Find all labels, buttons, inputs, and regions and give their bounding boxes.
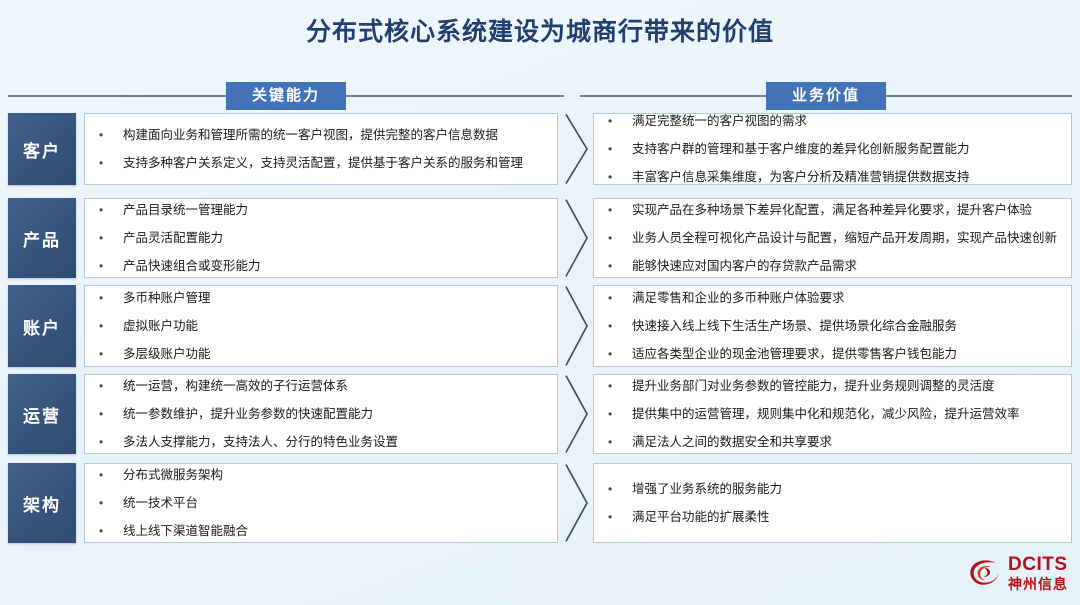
logo-wordmark: DCITS 神州信息 [1008, 555, 1068, 591]
chevron-right-icon [562, 113, 590, 185]
value-bullet-text: 实现产品在多种场景下差异化配置，满足各种差异化要求，提升客户体验 [632, 202, 1063, 219]
bullet-dot-icon: • [608, 509, 632, 526]
bullet-dot-icon: • [99, 467, 123, 484]
value-bullet-text: 丰富客户信息采集维度，为客户分析及精准营销提供数据支持 [632, 169, 1063, 186]
capability-bullet: •支持多种客户关系定义，支持灵活配置，提供基于客户关系的服务和管理 [99, 149, 549, 177]
bullet-dot-icon: • [608, 378, 632, 395]
bullet-dot-icon: • [608, 406, 632, 423]
value-bullet-text: 增强了业务系统的服务能力 [632, 481, 1063, 498]
value-bullet-text: 满足法人之间的数据安全和共享要求 [632, 434, 1063, 451]
bullet-dot-icon: • [608, 346, 632, 363]
category-label-4[interactable]: 架构 [8, 463, 76, 543]
matrix-row: 客户•构建面向业务和管理所需的统一客户视图，提供完整的客户信息数据•支持多种客户… [0, 113, 1080, 185]
capability-bullet-text: 统一技术平台 [123, 495, 549, 512]
capability-bullet-text: 虚拟账户功能 [123, 318, 549, 335]
value-bullet: •能够快速应对国内客户的存贷款产品需求 [608, 252, 1063, 280]
bullet-dot-icon: • [99, 495, 123, 512]
company-logo: DCITS 神州信息 [968, 555, 1068, 591]
values-box-2: •满足零售和企业的多币种账户体验要求•快速接入线上线下生活生产场景、提供场景化综… [593, 285, 1072, 367]
value-bullet: •满足零售和企业的多币种账户体验要求 [608, 284, 1063, 312]
value-bullet-text: 适应各类型企业的现金池管理要求，提供零售客户钱包能力 [632, 346, 1063, 363]
bullet-dot-icon: • [99, 127, 123, 144]
value-bullet: •满足法人之间的数据安全和共享要求 [608, 428, 1063, 456]
capability-bullet: •统一技术平台 [99, 489, 549, 517]
bullet-dot-icon: • [99, 230, 123, 247]
column-header-values: 业务价值 [580, 82, 1072, 110]
capability-bullet-text: 分布式微服务架构 [123, 467, 549, 484]
values-box-0: •满足完整统一的客户视图的需求•支持客户群的管理和基于客户维度的差异化创新服务配… [593, 113, 1072, 185]
values-box-4: •增强了业务系统的服务能力•满足平台功能的扩展柔性 [593, 463, 1072, 543]
bullet-dot-icon: • [608, 169, 632, 186]
capability-bullet: •统一参数维护，提升业务参数的快速配置能力 [99, 400, 549, 428]
value-bullet-text: 支持客户群的管理和基于客户维度的差异化创新服务配置能力 [632, 141, 1063, 158]
category-label-0[interactable]: 客户 [8, 113, 76, 185]
bullet-dot-icon: • [99, 202, 123, 219]
page-title: 分布式核心系统建设为城商行带来的价值 [0, 12, 1080, 48]
capability-bullet-text: 多层级账户功能 [123, 346, 549, 363]
bullet-dot-icon: • [608, 113, 632, 130]
header-rule-right-end [886, 95, 1072, 97]
capability-bullet: •统一运营，构建统一高效的子行运营体系 [99, 372, 549, 400]
capability-bullet: •分布式微服务架构 [99, 461, 549, 489]
value-bullet: •业务人员全程可视化产品设计与配置，缩短产品开发周期，实现产品快速创新 [608, 224, 1063, 252]
capability-bullet: •产品快速组合或变形能力 [99, 252, 549, 280]
value-bullet-text: 业务人员全程可视化产品设计与配置，缩短产品开发周期，实现产品快速创新 [632, 230, 1063, 247]
header-rule-left-end [346, 95, 564, 97]
capability-bullet-text: 多币种账户管理 [123, 290, 549, 307]
bullet-dot-icon: • [608, 258, 632, 275]
capability-bullet: •多币种账户管理 [99, 284, 549, 312]
header-rule-left-start [8, 95, 226, 97]
capabilities-box-0: •构建面向业务和管理所需的统一客户视图，提供完整的客户信息数据•支持多种客户关系… [84, 113, 558, 185]
value-bullet-text: 满足完整统一的客户视图的需求 [632, 113, 1063, 130]
capability-bullet: •多层级账户功能 [99, 340, 549, 368]
value-bullet-text: 能够快速应对国内客户的存贷款产品需求 [632, 258, 1063, 275]
bullet-dot-icon: • [99, 318, 123, 335]
header-chip-capabilities: 关键能力 [226, 82, 346, 110]
bullet-dot-icon: • [99, 346, 123, 363]
column-header-capabilities: 关键能力 [8, 82, 564, 110]
matrix-row: 账户•多币种账户管理•虚拟账户功能•多层级账户功能•满足零售和企业的多币种账户体… [0, 285, 1080, 367]
bullet-dot-icon: • [608, 481, 632, 498]
bullet-dot-icon: • [99, 406, 123, 423]
category-label-1[interactable]: 产品 [8, 198, 76, 278]
capabilities-box-4: •分布式微服务架构•统一技术平台•线上线下渠道智能融合 [84, 463, 558, 543]
value-bullet: •提升业务部门对业务参数的管控能力，提升业务规则调整的灵活度 [608, 372, 1063, 400]
bullet-dot-icon: • [99, 155, 123, 172]
value-bullet: •支持客户群的管理和基于客户维度的差异化创新服务配置能力 [608, 135, 1063, 163]
header-rule-right-start [580, 95, 766, 97]
value-bullet: •增强了业务系统的服务能力 [608, 475, 1063, 503]
value-bullet: •丰富客户信息采集维度，为客户分析及精准营销提供数据支持 [608, 163, 1063, 191]
bullet-dot-icon: • [99, 434, 123, 451]
capabilities-box-3: •统一运营，构建统一高效的子行运营体系•统一参数维护，提升业务参数的快速配置能力… [84, 374, 558, 454]
dcits-swoosh-icon [968, 557, 1002, 589]
value-bullet-text: 满足平台功能的扩展柔性 [632, 509, 1063, 526]
value-bullet: •实现产品在多种场景下差异化配置，满足各种差异化要求，提升客户体验 [608, 196, 1063, 224]
chevron-right-icon [562, 285, 590, 367]
capability-bullet-text: 支持多种客户关系定义，支持灵活配置，提供基于客户关系的服务和管理 [123, 155, 549, 172]
value-bullet: •快速接入线上线下生活生产场景、提供场景化综合金融服务 [608, 312, 1063, 340]
capability-bullet-text: 产品快速组合或变形能力 [123, 258, 549, 275]
chevron-right-icon [562, 463, 590, 543]
value-bullet-text: 满足零售和企业的多币种账户体验要求 [632, 290, 1063, 307]
capability-bullet-text: 统一参数维护，提升业务参数的快速配置能力 [123, 406, 549, 423]
capability-bullet-text: 多法人支撑能力，支持法人、分行的特色业务设置 [123, 434, 549, 451]
value-bullet: •满足完整统一的客户视图的需求 [608, 107, 1063, 135]
bullet-dot-icon: • [608, 290, 632, 307]
capability-bullet: •多法人支撑能力，支持法人、分行的特色业务设置 [99, 428, 549, 456]
capabilities-box-2: •多币种账户管理•虚拟账户功能•多层级账户功能 [84, 285, 558, 367]
header-chip-values: 业务价值 [766, 82, 886, 110]
bullet-dot-icon: • [608, 230, 632, 247]
capability-bullet-text: 线上线下渠道智能融合 [123, 523, 549, 540]
capability-bullet: •线上线下渠道智能融合 [99, 517, 549, 545]
bullet-dot-icon: • [608, 434, 632, 451]
bullet-dot-icon: • [99, 378, 123, 395]
bullet-dot-icon: • [608, 141, 632, 158]
capability-bullet-text: 统一运营，构建统一高效的子行运营体系 [123, 378, 549, 395]
logo-text-en: DCITS [1008, 555, 1068, 574]
bullet-dot-icon: • [99, 258, 123, 275]
value-bullet: •满足平台功能的扩展柔性 [608, 503, 1063, 531]
values-box-3: •提升业务部门对业务参数的管控能力，提升业务规则调整的灵活度•提供集中的运营管理… [593, 374, 1072, 454]
chevron-right-icon [562, 198, 590, 278]
chevron-right-icon [562, 374, 590, 454]
capabilities-box-1: •产品目录统一管理能力•产品灵活配置能力•产品快速组合或变形能力 [84, 198, 558, 278]
bullet-dot-icon: • [99, 290, 123, 307]
value-bullet: •适应各类型企业的现金池管理要求，提供零售客户钱包能力 [608, 340, 1063, 368]
capability-bullet: •产品目录统一管理能力 [99, 196, 549, 224]
value-bullet-text: 提供集中的运营管理，规则集中化和规范化，减少风险，提升运营效率 [632, 406, 1063, 423]
bullet-dot-icon: • [99, 523, 123, 540]
value-bullet-text: 快速接入线上线下生活生产场景、提供场景化综合金融服务 [632, 318, 1063, 335]
category-label-3[interactable]: 运营 [8, 374, 76, 454]
bullet-dot-icon: • [608, 318, 632, 335]
capability-bullet: •虚拟账户功能 [99, 312, 549, 340]
capability-bullet: •构建面向业务和管理所需的统一客户视图，提供完整的客户信息数据 [99, 121, 549, 149]
capability-bullet-text: 构建面向业务和管理所需的统一客户视图，提供完整的客户信息数据 [123, 127, 549, 144]
values-box-1: •实现产品在多种场景下差异化配置，满足各种差异化要求，提升客户体验•业务人员全程… [593, 198, 1072, 278]
capability-bullet-text: 产品目录统一管理能力 [123, 202, 549, 219]
matrix-row: 产品•产品目录统一管理能力•产品灵活配置能力•产品快速组合或变形能力•实现产品在… [0, 198, 1080, 278]
matrix-row: 运营•统一运营，构建统一高效的子行运营体系•统一参数维护，提升业务参数的快速配置… [0, 374, 1080, 454]
value-bullet: •提供集中的运营管理，规则集中化和规范化，减少风险，提升运营效率 [608, 400, 1063, 428]
capability-bullet: •产品灵活配置能力 [99, 224, 549, 252]
logo-text-cn: 神州信息 [1008, 577, 1068, 591]
value-bullet-text: 提升业务部门对业务参数的管控能力，提升业务规则调整的灵活度 [632, 378, 1063, 395]
matrix-row: 架构•分布式微服务架构•统一技术平台•线上线下渠道智能融合•增强了业务系统的服务… [0, 463, 1080, 543]
capability-bullet-text: 产品灵活配置能力 [123, 230, 549, 247]
bullet-dot-icon: • [608, 202, 632, 219]
category-label-2[interactable]: 账户 [8, 285, 76, 367]
